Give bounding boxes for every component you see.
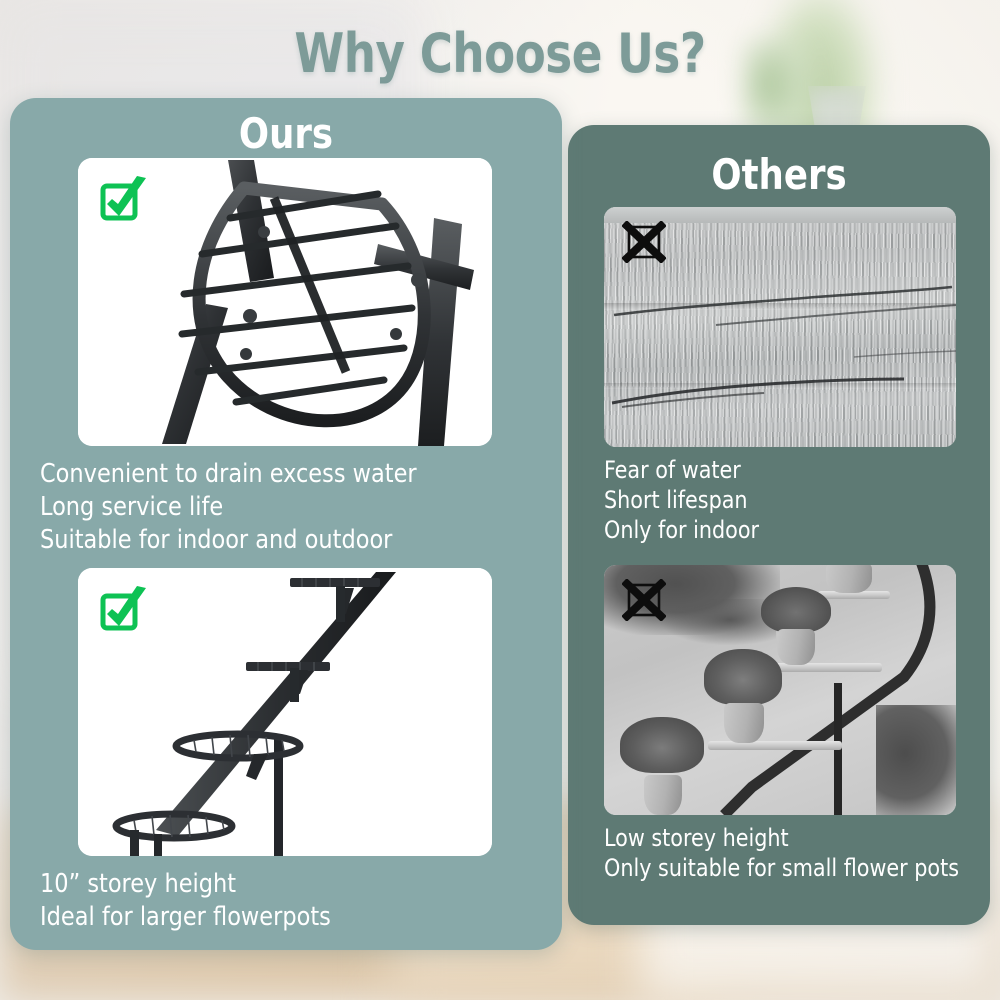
others-column-heading: Others: [581, 150, 978, 199]
others-bullet-1-2: Short lifespan: [604, 485, 759, 515]
ours-column-heading: Ours: [27, 109, 546, 158]
ours-column-panel: Ours: [10, 98, 562, 950]
black-cross-icon: [622, 221, 666, 263]
others-column-panel: Others Fear o: [568, 125, 990, 925]
ours-bullet-1-2: Long service life: [40, 491, 417, 524]
others-bullets-block-1: Fear of water Short lifespan Only for in…: [604, 455, 766, 546]
others-image-card-plant-stand: [604, 565, 956, 815]
ours-bullets-block-1: Convenient to drain excess water Long se…: [40, 458, 432, 556]
ours-image-card-stand-profile: [78, 568, 492, 856]
others-bullet-1-1: Fear of water: [604, 455, 759, 485]
bw-potted-plant-1: [630, 717, 694, 815]
others-bullet-1-3: Only for indoor: [604, 515, 759, 545]
ours-bullets-block-2: 10” storey height Ideal for larger flowe…: [40, 868, 343, 934]
ours-bullet-2-2: Ideal for larger flowerpots: [40, 901, 331, 934]
ours-image-card-shelf-grid: [78, 158, 492, 446]
others-image-card-wood: [604, 207, 956, 447]
bw-potted-plant-2: [712, 649, 774, 743]
others-bullets-block-2: Low storey height Only suitable for smal…: [604, 823, 974, 883]
bw-potted-plant-4: [826, 565, 872, 593]
bw-potted-plant-3: [770, 587, 822, 665]
black-cross-icon: [622, 579, 666, 621]
green-check-icon: [98, 584, 150, 634]
others-bullet-2-2: Only suitable for small flower pots: [604, 853, 959, 883]
ours-bullet-1-3: Suitable for indoor and outdoor: [40, 524, 417, 557]
page-title: Why Choose Us?: [35, 22, 965, 85]
ours-bullet-1-1: Convenient to drain excess water: [40, 458, 417, 491]
bw-foreground-leaf-icon: [876, 705, 956, 815]
ours-bullet-2-1: 10” storey height: [40, 868, 331, 901]
others-bullet-2-1: Low storey height: [604, 823, 959, 853]
infographic-canvas: Why Choose Us? Others: [0, 0, 1000, 1000]
green-check-icon: [98, 174, 150, 224]
